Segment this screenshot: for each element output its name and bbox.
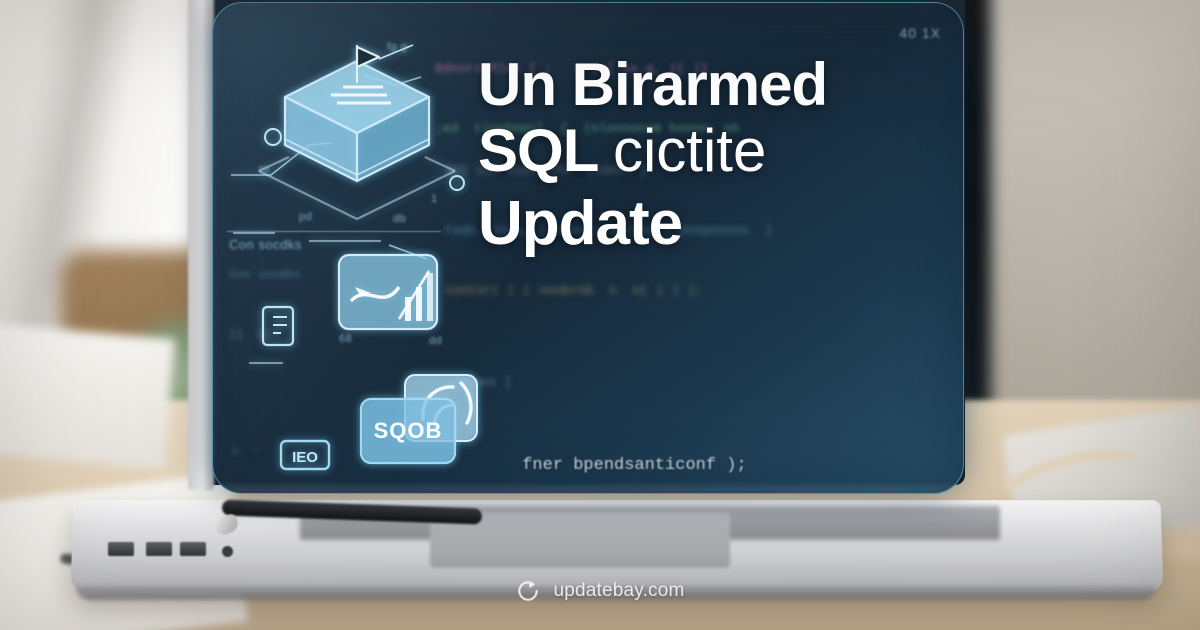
io-badge-icon: IEO <box>279 439 335 473</box>
code-line: 0. <box>449 493 511 494</box>
laptop-bezel <box>188 0 214 490</box>
usb-port <box>180 542 206 556</box>
code-foreground: fner bpendsanticonf ); corlnehnm (t2) r … <box>461 371 961 494</box>
headline-sql: SQL <box>478 117 597 184</box>
analytics-chart-icon <box>337 253 447 345</box>
cards-label: SQOB <box>374 418 443 443</box>
io-label: IEO <box>292 449 318 466</box>
cube-caption-b1: pd <box>299 211 312 223</box>
cube-caption-b2: db <box>393 213 406 225</box>
node-circle-icon <box>259 123 289 153</box>
chart-caption-b: dd <box>429 335 442 347</box>
headline-line-2: SQL cictite <box>478 118 948 184</box>
watermark: updatebay.com <box>0 578 1200 604</box>
usb-port <box>108 542 134 556</box>
node-circle-icon <box>445 171 471 197</box>
3d-cube-icon <box>287 53 467 233</box>
audio-jack <box>222 546 233 557</box>
refresh-circle-icon <box>515 578 541 604</box>
code-token: fner bpendsanticonf ); <box>522 456 746 475</box>
cube-caption-top: fg g <box>387 41 407 53</box>
code-line: fner bpendsanticonf ); <box>461 425 961 494</box>
cube-caption-right: 1 <box>431 193 438 205</box>
wireless-cards-icon: SQOB <box>361 375 491 485</box>
page-title: Un Birarmed SQL cictite Update <box>478 52 948 264</box>
section-divider <box>227 231 441 232</box>
chart-caption-a: 68 <box>339 333 352 345</box>
section-caption: Con socdks <box>229 237 302 252</box>
cube-caption-left: ro <box>259 163 270 175</box>
document-icon <box>259 303 303 357</box>
resolution-badge: 40 1X <box>899 25 941 41</box>
headline-line-1: Un Birarmed <box>478 52 948 118</box>
headline-line-3: Update <box>478 184 948 264</box>
headline-cictite: cictite <box>613 117 766 184</box>
usb-port <box>146 542 172 556</box>
watermark-text: updatebay.com <box>553 580 684 602</box>
icon-cluster: fg g ro 1 pd db Con socdks 68 dd <box>213 3 513 494</box>
